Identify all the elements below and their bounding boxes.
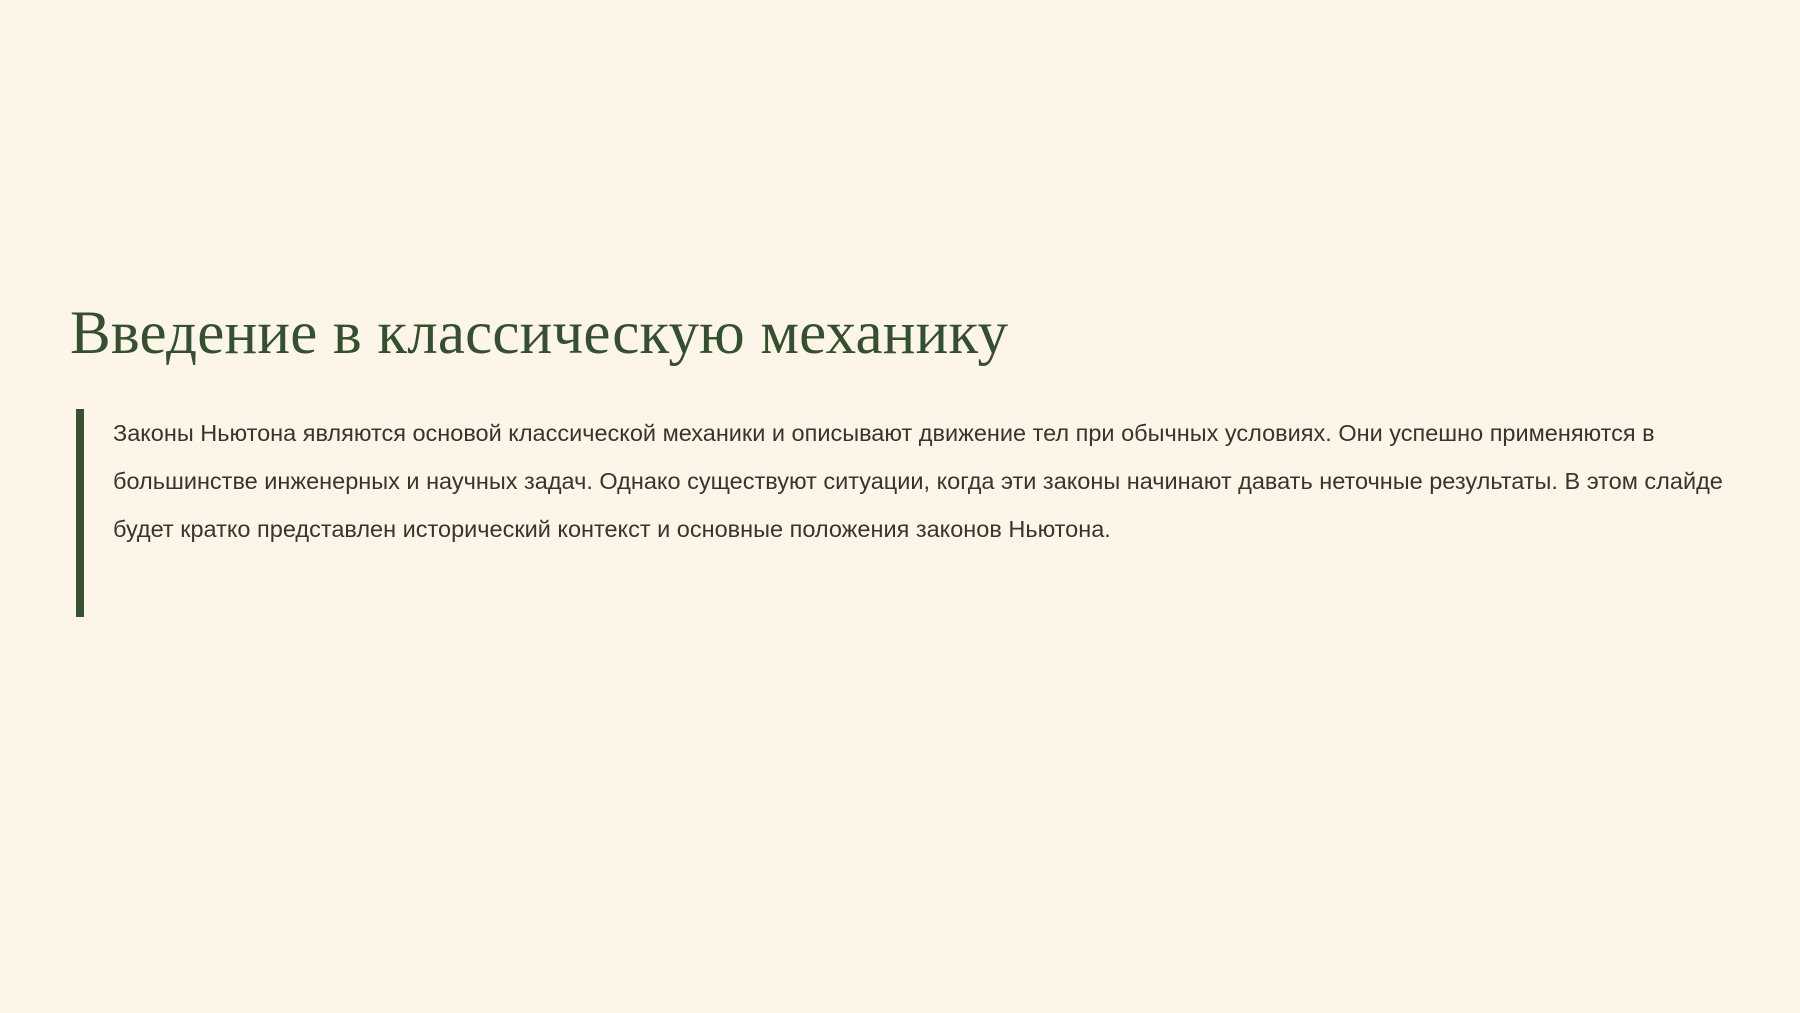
slide-canvas: Введение в классическую механику Законы … xyxy=(0,0,1800,1013)
page-title: Введение в классическую механику xyxy=(70,300,1730,368)
slide-content-wrapper: Введение в классическую механику Законы … xyxy=(70,300,1730,617)
body-paragraph: Законы Ньютона являются основой классиче… xyxy=(113,409,1730,553)
accent-bar xyxy=(76,409,84,617)
body-content-block: Законы Ньютона являются основой классиче… xyxy=(70,409,1730,617)
